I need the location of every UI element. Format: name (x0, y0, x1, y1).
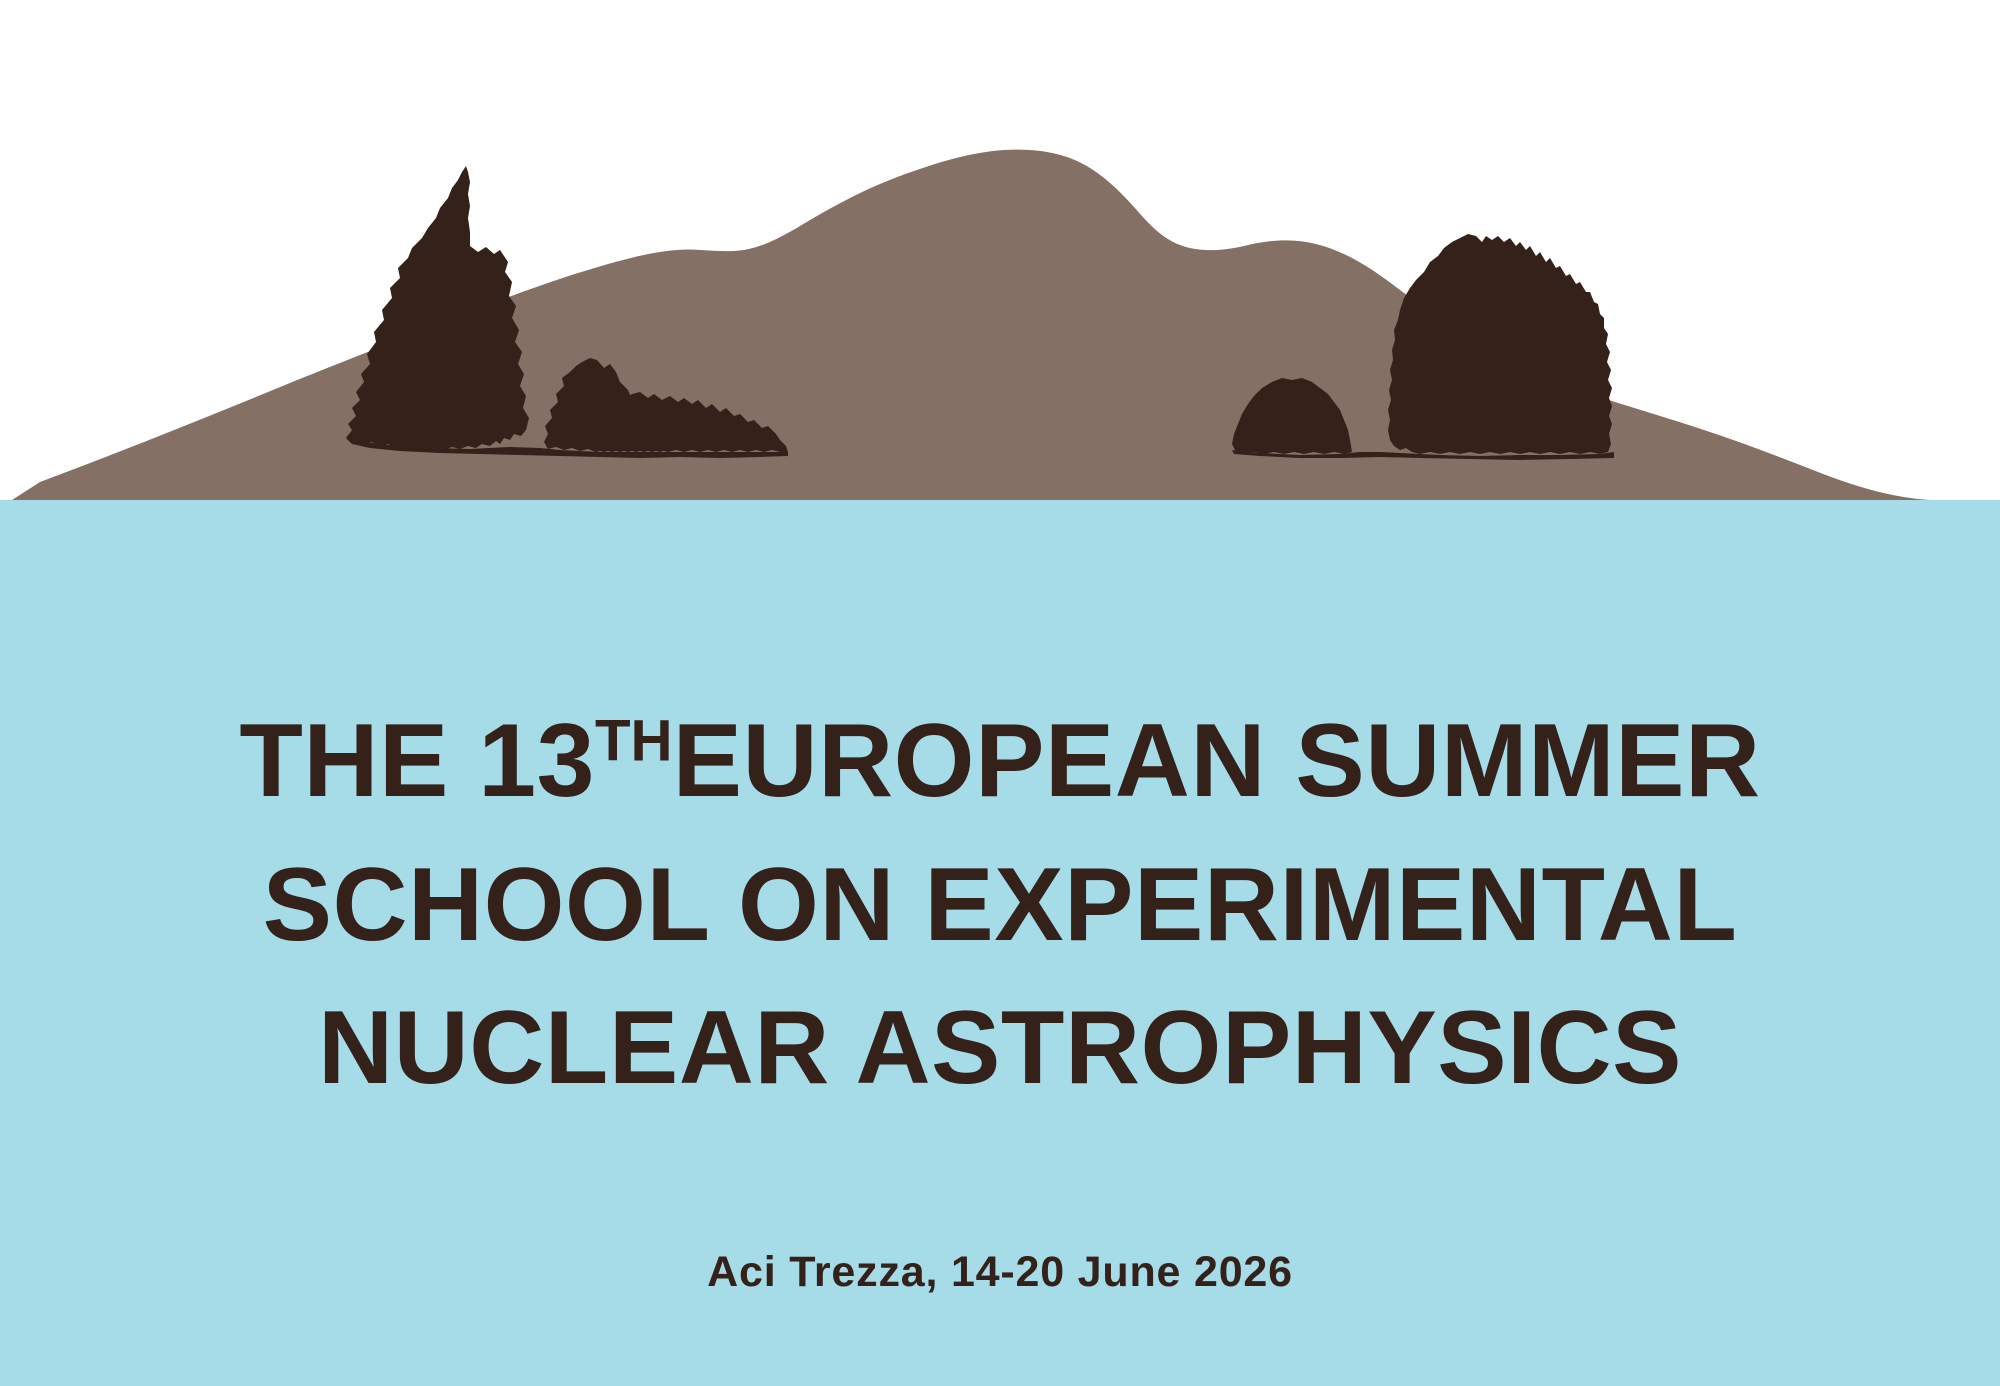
scenery-illustration (0, 0, 2000, 1386)
sea-band (0, 500, 2000, 1386)
poster-root: THE 13THEUROPEAN SUMMER SCHOOL ON EXPERI… (0, 0, 2000, 1386)
